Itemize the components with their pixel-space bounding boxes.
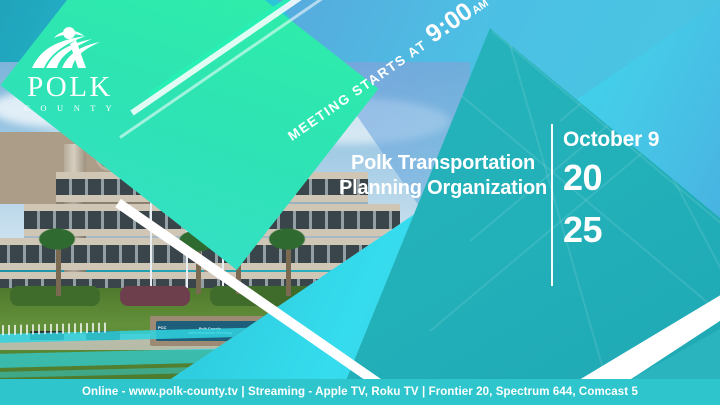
county-seal-icon bbox=[247, 324, 262, 339]
hedge bbox=[10, 286, 100, 306]
palm-fronds bbox=[35, 226, 79, 252]
florida-flag-icon bbox=[224, 181, 252, 201]
white-corner-chevron bbox=[574, 293, 720, 383]
logo-subtitle: C O U N T Y bbox=[18, 103, 122, 113]
palm-tree bbox=[196, 248, 201, 294]
teal-corner-accent bbox=[624, 329, 720, 383]
broadcast-footer-bar: Online - www.polk-county.tv | Streaming … bbox=[0, 379, 720, 405]
broadcast-info-text: Online - www.polk-county.tv | Streaming … bbox=[82, 386, 638, 398]
event-title-line-2: Planning Organization bbox=[326, 176, 560, 201]
event-title: Polk Transportation Planning Organizatio… bbox=[326, 151, 560, 201]
date-year-top: 20 bbox=[563, 158, 659, 198]
palm-fronds bbox=[215, 230, 259, 256]
hedge bbox=[340, 286, 460, 306]
date-year-bottom: 25 bbox=[563, 210, 659, 250]
round-window bbox=[98, 144, 122, 168]
logo-wordmark: POLK bbox=[18, 72, 122, 102]
palm-tree bbox=[286, 246, 291, 296]
meeting-slate: Polk County Administration Building PCC bbox=[0, 0, 720, 405]
palm-fronds bbox=[175, 228, 219, 254]
us-flag-icon bbox=[152, 172, 186, 198]
event-title-line-1: Polk Transportation bbox=[326, 151, 560, 176]
palm-tree bbox=[236, 250, 241, 294]
polk-county-sun-road-icon bbox=[24, 24, 110, 70]
polk-county-logo: POLK C O U N T Y bbox=[18, 24, 122, 113]
white-flag-icon bbox=[188, 183, 214, 202]
palm-fronds bbox=[265, 226, 309, 252]
event-date: October 9 20 25 bbox=[563, 128, 659, 250]
hedge bbox=[210, 286, 320, 306]
hedge bbox=[120, 286, 190, 306]
vertical-divider bbox=[551, 124, 553, 286]
date-month-day: October 9 bbox=[563, 128, 659, 152]
